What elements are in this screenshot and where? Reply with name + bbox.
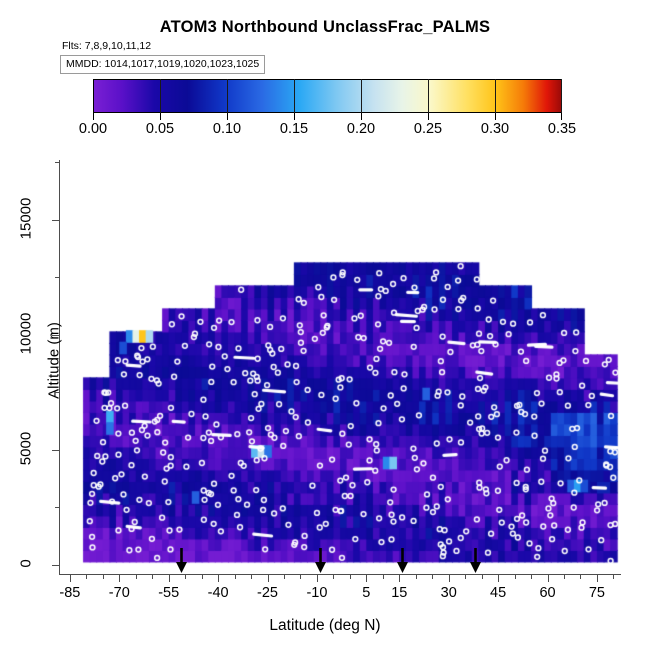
latitude-arrow-marker — [175, 548, 188, 574]
x-axis-minor-tick — [531, 575, 532, 579]
colorbar-separator — [227, 79, 228, 113]
x-axis-minor-tick — [416, 575, 417, 579]
x-axis-minor-tick — [103, 575, 104, 579]
x-axis-minor-tick — [152, 575, 153, 579]
x-axis-tick-label: 15 — [391, 585, 407, 601]
y-axis-minor-tick — [55, 162, 60, 163]
colorbar-separator — [361, 79, 362, 113]
y-axis-tick — [52, 565, 60, 566]
x-axis-minor-tick — [383, 575, 384, 579]
latitude-arrow-marker — [314, 548, 327, 574]
colorbar-tick-label: 0.05 — [146, 121, 174, 137]
colorbar-tick-label: 0.10 — [213, 121, 241, 137]
x-axis-minor-tick — [580, 575, 581, 579]
colorbar-tick — [495, 113, 496, 120]
colorbar-tick — [227, 113, 228, 120]
flights-annotation: Flts: 7,8,9,10,11,12 — [62, 40, 151, 52]
x-axis-tick-label: 5 — [362, 585, 370, 601]
colorbar-separator — [160, 79, 161, 113]
colorbar: 0.000.050.100.150.200.250.300.35 — [93, 79, 562, 113]
x-axis-minor-tick — [136, 575, 137, 579]
x-axis-minor-tick — [284, 575, 285, 579]
y-axis-minor-tick — [55, 507, 60, 508]
x-axis-minor-tick — [251, 575, 252, 579]
colorbar-tick — [294, 113, 295, 120]
x-axis-tick-label: -85 — [59, 585, 80, 601]
x-axis-minor-tick — [564, 575, 565, 579]
x-axis-tick — [597, 575, 598, 582]
x-axis-tick-label: -40 — [208, 585, 229, 601]
y-axis-tick-label: 5000 — [18, 420, 35, 476]
x-axis-tick — [366, 575, 367, 582]
y-axis-tick-label: 15000 — [18, 190, 35, 246]
x-axis-minor-tick — [465, 575, 466, 579]
y-axis-minor-tick — [55, 277, 60, 278]
x-axis-tick — [169, 575, 170, 582]
x-axis-minor-tick — [333, 575, 334, 579]
colorbar-tick-label: 0.25 — [414, 121, 442, 137]
y-axis-tick-label: 10000 — [18, 305, 35, 361]
colorbar-tick — [428, 113, 429, 120]
colorbar-tick — [93, 113, 94, 120]
x-axis-tick-label: -25 — [257, 585, 278, 601]
latitude-arrow-marker — [396, 548, 409, 574]
x-axis-tick — [119, 575, 120, 582]
heatmap-plot-area — [60, 160, 620, 574]
colorbar-tick — [160, 113, 161, 120]
x-axis-tick — [548, 575, 549, 582]
x-axis-tick-label: -10 — [306, 585, 327, 601]
x-axis-tick-label: 30 — [441, 585, 457, 601]
colorbar-separator — [294, 79, 295, 113]
colorbar-separator — [495, 79, 496, 113]
colorbar-gradient — [93, 79, 562, 113]
x-axis-tick — [498, 575, 499, 582]
x-axis-minor-tick — [482, 575, 483, 579]
x-axis-tick-label: 60 — [539, 585, 555, 601]
colorbar-tick — [561, 113, 562, 120]
x-axis-tick — [449, 575, 450, 582]
x-axis-tick — [399, 575, 400, 582]
x-axis-tick — [218, 575, 219, 582]
x-axis-tick — [70, 575, 71, 582]
x-axis-tick — [317, 575, 318, 582]
x-axis-minor-tick — [350, 575, 351, 579]
y-axis-label: Altitude (m) — [46, 301, 63, 421]
x-axis-tick-label: 45 — [490, 585, 506, 601]
colorbar-tick — [361, 113, 362, 120]
colorbar-tick-label: 0.00 — [79, 121, 107, 137]
colorbar-tick-label: 0.30 — [481, 121, 509, 137]
x-axis-minor-tick — [235, 575, 236, 579]
colorbar-tick-label: 0.35 — [548, 121, 576, 137]
y-axis-tick — [52, 220, 60, 221]
x-axis-tick-label: -70 — [109, 585, 130, 601]
colorbar-tick-label: 0.20 — [347, 121, 375, 137]
x-axis-tick-label: -55 — [158, 585, 179, 601]
x-axis-tick-label: 75 — [589, 585, 605, 601]
x-axis-minor-tick — [86, 575, 87, 579]
page-title: ATOM3 Northbound UnclassFrac_PALMS — [0, 18, 650, 37]
x-axis-tick — [268, 575, 269, 582]
x-axis-minor-tick — [202, 575, 203, 579]
colorbar-separator — [428, 79, 429, 113]
x-axis-label: Latitude (deg N) — [0, 617, 650, 635]
colorbar-separator — [561, 79, 562, 113]
latitude-arrow-marker — [469, 548, 482, 574]
x-axis-line — [59, 574, 621, 575]
x-axis-minor-tick — [515, 575, 516, 579]
dates-annotation: MMDD: 1014,1017,1019,1020,1023,1025 — [60, 55, 265, 74]
x-axis-minor-tick — [300, 575, 301, 579]
y-axis-tick-label: 0 — [18, 535, 35, 591]
y-axis-tick — [52, 335, 60, 336]
colorbar-tick-label: 0.15 — [280, 121, 308, 137]
x-axis-minor-tick — [613, 575, 614, 579]
x-axis-minor-tick — [432, 575, 433, 579]
x-axis-minor-tick — [185, 575, 186, 579]
y-axis-minor-tick — [55, 392, 60, 393]
y-axis-tick — [52, 450, 60, 451]
sample-markers — [60, 160, 620, 574]
